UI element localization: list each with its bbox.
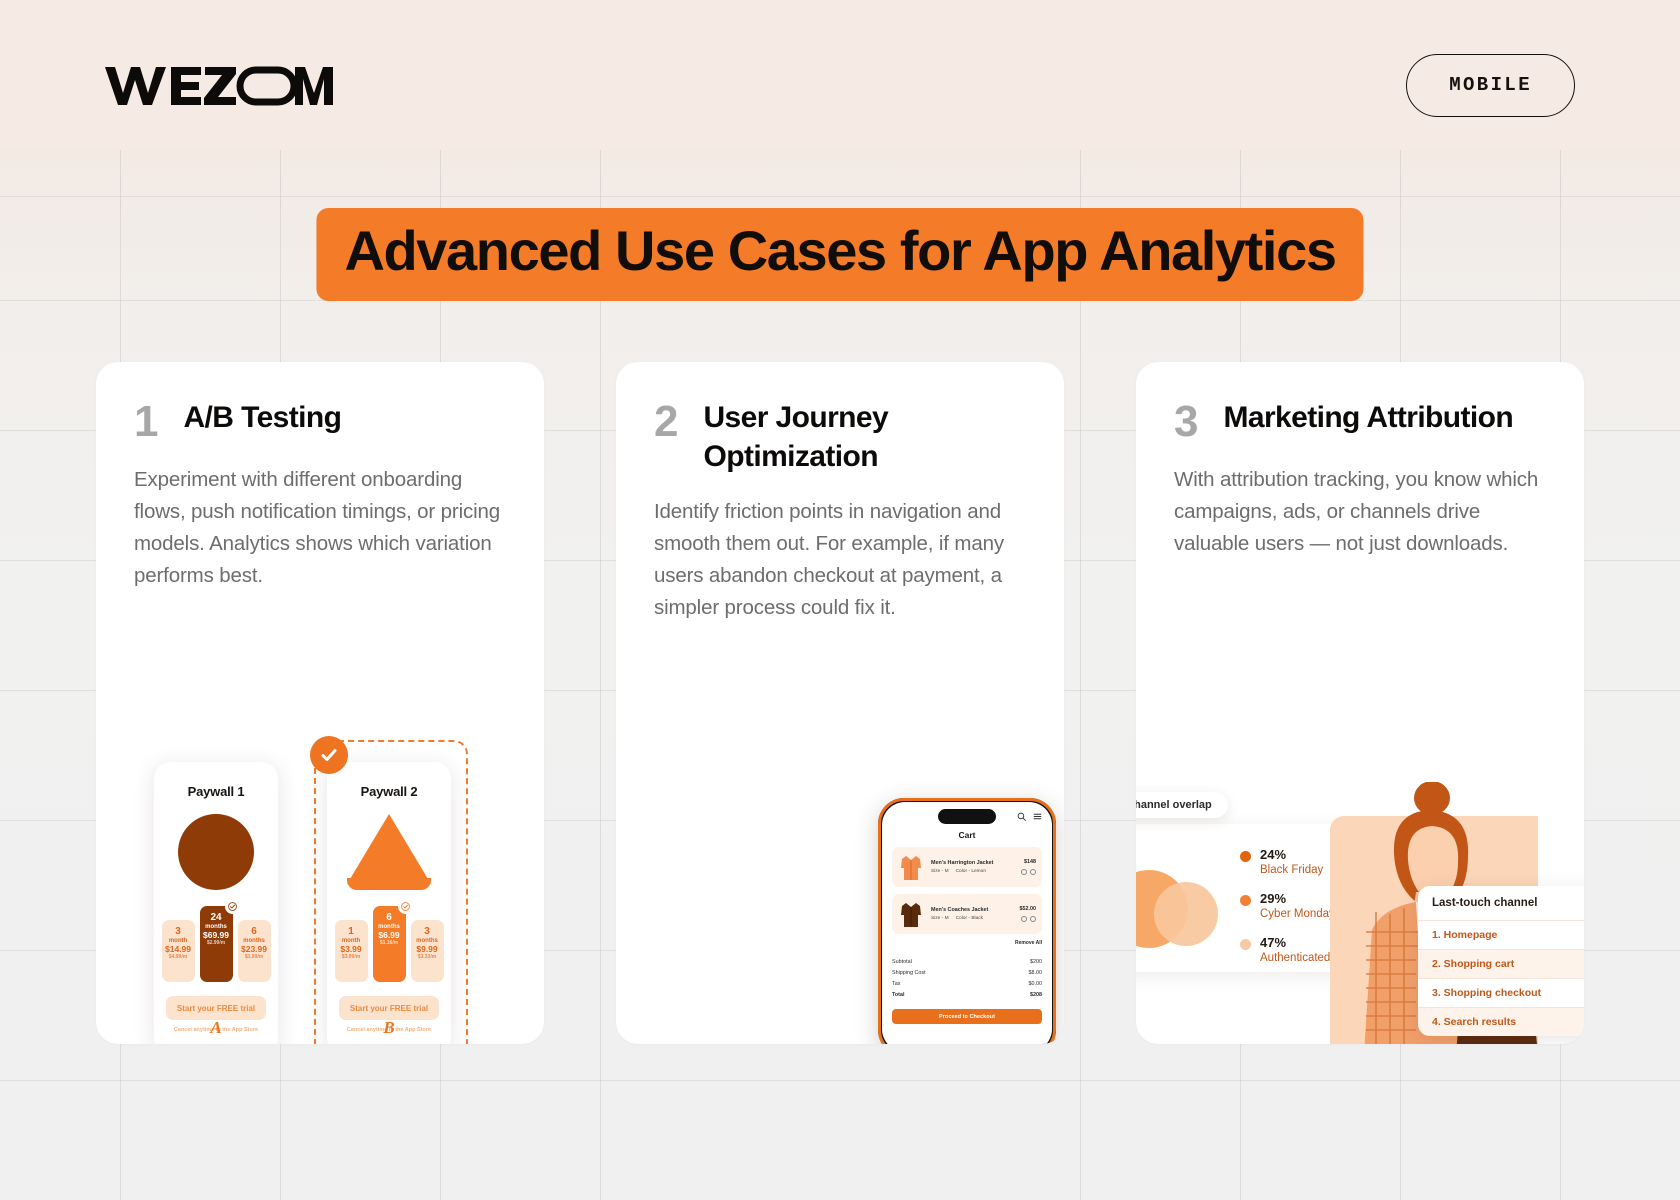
phone-mockup: Cart Men's Harrington Jacket Size - M Co… xyxy=(878,798,1056,1044)
tier-count: 6 xyxy=(375,912,404,924)
card-ab-testing[interactable]: 1 A/B Testing Experiment with different … xyxy=(96,362,544,1044)
last-touch-row[interactable]: 2. Shopping cart xyxy=(1418,949,1584,978)
card-number: 1 xyxy=(134,400,157,444)
cart-item[interactable]: Men's Coaches Jacket Size - M Color - Bl… xyxy=(892,894,1042,934)
cart-item-color: Color - Black xyxy=(956,916,983,921)
paywall-a-title: Paywall 1 xyxy=(154,784,278,799)
cart-item-color: Color - Lemon xyxy=(956,869,986,874)
tier-option-selected[interactable]: 24 months $69.99 $2.99/m xyxy=(200,906,233,982)
tier-option[interactable]: 3 months $9.99 $3.33/m xyxy=(411,920,444,982)
cart-item-stepper[interactable] xyxy=(1021,869,1036,875)
check-badge-icon xyxy=(225,899,240,914)
summary-row: Tax $0.00 xyxy=(892,978,1042,989)
paywall-ab-illustration: Paywall 1 3 month $14.99 $4.99/m 24 xyxy=(96,714,544,1044)
last-touch-channel-card: Last-touch channel 1. Homepage 2. Shoppi… xyxy=(1418,886,1584,1036)
paywall-variant-b[interactable]: Paywall 2 1 month $3.99 $3.99/m xyxy=(327,762,451,1044)
page-header: WEZOM MOBILE xyxy=(0,0,1680,170)
tier-count: 3 xyxy=(164,926,193,938)
last-touch-row[interactable]: 1. Homepage xyxy=(1418,920,1584,949)
cart-item-price: $52.00 xyxy=(1020,906,1037,912)
page-title: Advanced Use Cases for App Analytics xyxy=(344,222,1335,281)
summary-row-total: Total $208 xyxy=(892,989,1042,1000)
cart-item[interactable]: Men's Harrington Jacket Size - M Color -… xyxy=(892,847,1042,887)
tier-monthly: $2.99/m xyxy=(202,941,231,947)
summary-value: $8.00 xyxy=(1029,970,1043,976)
cart-item-name: Men's Coaches Jacket xyxy=(931,907,1013,913)
card-description: Identify friction points in navigation a… xyxy=(616,476,1064,624)
card-number: 3 xyxy=(1174,400,1197,444)
cart-item-name: Men's Harrington Jacket xyxy=(931,860,1014,866)
cart-item-size: Size - M xyxy=(931,869,949,874)
menu-icon[interactable] xyxy=(1033,812,1042,821)
proceed-to-checkout-button[interactable]: Proceed to Checkout xyxy=(892,1009,1042,1024)
legend-dot-icon xyxy=(1240,895,1251,906)
last-touch-row[interactable]: 4. Search results xyxy=(1418,1007,1584,1036)
card-header: 1 A/B Testing xyxy=(96,362,544,444)
legend-dot-icon xyxy=(1240,939,1251,950)
mobile-badge[interactable]: MOBILE xyxy=(1406,54,1575,117)
cart-item-attrs: Size - M Color - Black xyxy=(931,916,1013,921)
tier-unit: month xyxy=(164,938,193,945)
summary-value: $208 xyxy=(1030,992,1042,998)
search-icon[interactable] xyxy=(1017,812,1026,821)
tier-option[interactable]: 3 month $14.99 $4.99/m xyxy=(162,920,195,982)
card-marketing-attribution[interactable]: 3 Marketing Attribution With attribution… xyxy=(1136,362,1584,1044)
card-number: 2 xyxy=(654,400,677,476)
last-touch-title: Last-touch channel xyxy=(1418,886,1584,920)
product-thumbnail-icon xyxy=(898,899,924,929)
tier-option[interactable]: 1 month $3.99 $3.99/m xyxy=(335,920,368,982)
tier-unit: months xyxy=(413,938,442,945)
paywall-b-title: Paywall 2 xyxy=(327,784,451,799)
tier-option-selected[interactable]: 6 months $6.99 $1.16/m xyxy=(373,906,406,982)
summary-label: Total xyxy=(892,992,904,998)
cart-item-attrs: Size - M Color - Lemon xyxy=(931,869,1014,874)
cart-item-stepper[interactable] xyxy=(1020,916,1037,922)
cart-title: Cart xyxy=(892,830,1042,840)
channel-overlap-chip: channel overlap xyxy=(1136,792,1228,818)
card-description: Experiment with different onboarding flo… xyxy=(96,444,544,592)
attribution-illustration: channel overlap 24% Black Friday xyxy=(1136,754,1584,1044)
card-title: User Journey Optimization xyxy=(703,398,1026,476)
legend-label: Black Friday xyxy=(1260,864,1323,876)
cart-item-meta: Men's Harrington Jacket Size - M Color -… xyxy=(931,860,1014,874)
tier-monthly: $3.33/m xyxy=(413,955,442,961)
summary-row: Subtotal $200 xyxy=(892,956,1042,967)
funnel-illustration: Home Page Category Page Add To Cart Chec… xyxy=(616,784,1064,1044)
summary-value: $0.00 xyxy=(1029,981,1043,987)
card-title: Marketing Attribution xyxy=(1223,398,1513,444)
summary-label: Shipping Cost xyxy=(892,970,926,976)
variant-a-letter: A xyxy=(154,1018,278,1038)
cart-item-meta: Men's Coaches Jacket Size - M Color - Bl… xyxy=(931,907,1013,921)
tier-monthly: $4.99/m xyxy=(164,955,193,961)
last-touch-row[interactable]: 3. Shopping checkout xyxy=(1418,978,1584,1007)
cart-item-size: Size - M xyxy=(931,916,949,921)
tier-count: 24 xyxy=(202,912,231,924)
tier-count: 6 xyxy=(240,926,269,938)
legend-dot-icon xyxy=(1240,851,1251,862)
summary-label: Subtotal xyxy=(892,959,912,965)
variant-b-letter: B xyxy=(327,1018,451,1038)
venn-circle-2 xyxy=(1154,882,1218,946)
tier-unit: months xyxy=(240,938,269,945)
paywall-b-cta-button[interactable]: Start your FREE trial xyxy=(339,996,439,1020)
card-header: 3 Marketing Attribution xyxy=(1136,362,1584,444)
tier-monthly: $3.99/m xyxy=(337,955,366,961)
tier-unit: month xyxy=(337,938,366,945)
title-banner: Advanced Use Cases for App Analytics xyxy=(316,208,1363,301)
product-thumbnail-icon xyxy=(898,852,924,882)
paywall-variant-a[interactable]: Paywall 1 3 month $14.99 $4.99/m 24 xyxy=(154,762,278,1044)
summary-label: Tax xyxy=(892,981,900,987)
paywall-a-cta-button[interactable]: Start your FREE trial xyxy=(166,996,266,1020)
tier-monthly: $1.16/m xyxy=(375,941,404,947)
check-badge-icon xyxy=(398,899,413,914)
card-header: 2 User Journey Optimization xyxy=(616,362,1064,476)
tier-unit: months xyxy=(202,924,231,931)
use-case-cards: 1 A/B Testing Experiment with different … xyxy=(96,362,1584,1044)
phone-notch xyxy=(938,809,996,824)
tier-unit: months xyxy=(375,924,404,931)
wezom-logo[interactable]: WEZOM xyxy=(105,58,365,112)
summary-value: $200 xyxy=(1030,959,1042,965)
tier-count: 3 xyxy=(413,926,442,938)
card-description: With attribution tracking, you know whic… xyxy=(1136,444,1584,560)
remove-all-button[interactable]: Remove All xyxy=(892,940,1042,946)
cart-summary: Subtotal $200 Shipping Cost $8.00 Tax $0… xyxy=(892,956,1042,1000)
paywall-b-tiers: 1 month $3.99 $3.99/m 6 months $6.99 $1.… xyxy=(327,906,451,982)
tier-monthly: $3.99/m xyxy=(240,955,269,961)
phone-screen: Cart Men's Harrington Jacket Size - M Co… xyxy=(882,802,1052,1044)
winner-check-icon xyxy=(310,736,348,774)
paywall-a-tiers: 3 month $14.99 $4.99/m 24 months $69.99 … xyxy=(154,906,278,982)
triangle-shape-icon xyxy=(327,814,451,890)
tier-count: 1 xyxy=(337,926,366,938)
tier-option[interactable]: 6 months $23.99 $3.99/m xyxy=(238,920,271,982)
circle-shape-icon xyxy=(178,814,254,890)
cart-item-price: $148 xyxy=(1021,859,1036,865)
legend-percent: 24% xyxy=(1260,848,1323,863)
card-title: A/B Testing xyxy=(183,398,341,444)
card-user-journey[interactable]: 2 User Journey Optimization Identify fri… xyxy=(616,362,1064,1044)
summary-row: Shipping Cost $8.00 xyxy=(892,967,1042,978)
